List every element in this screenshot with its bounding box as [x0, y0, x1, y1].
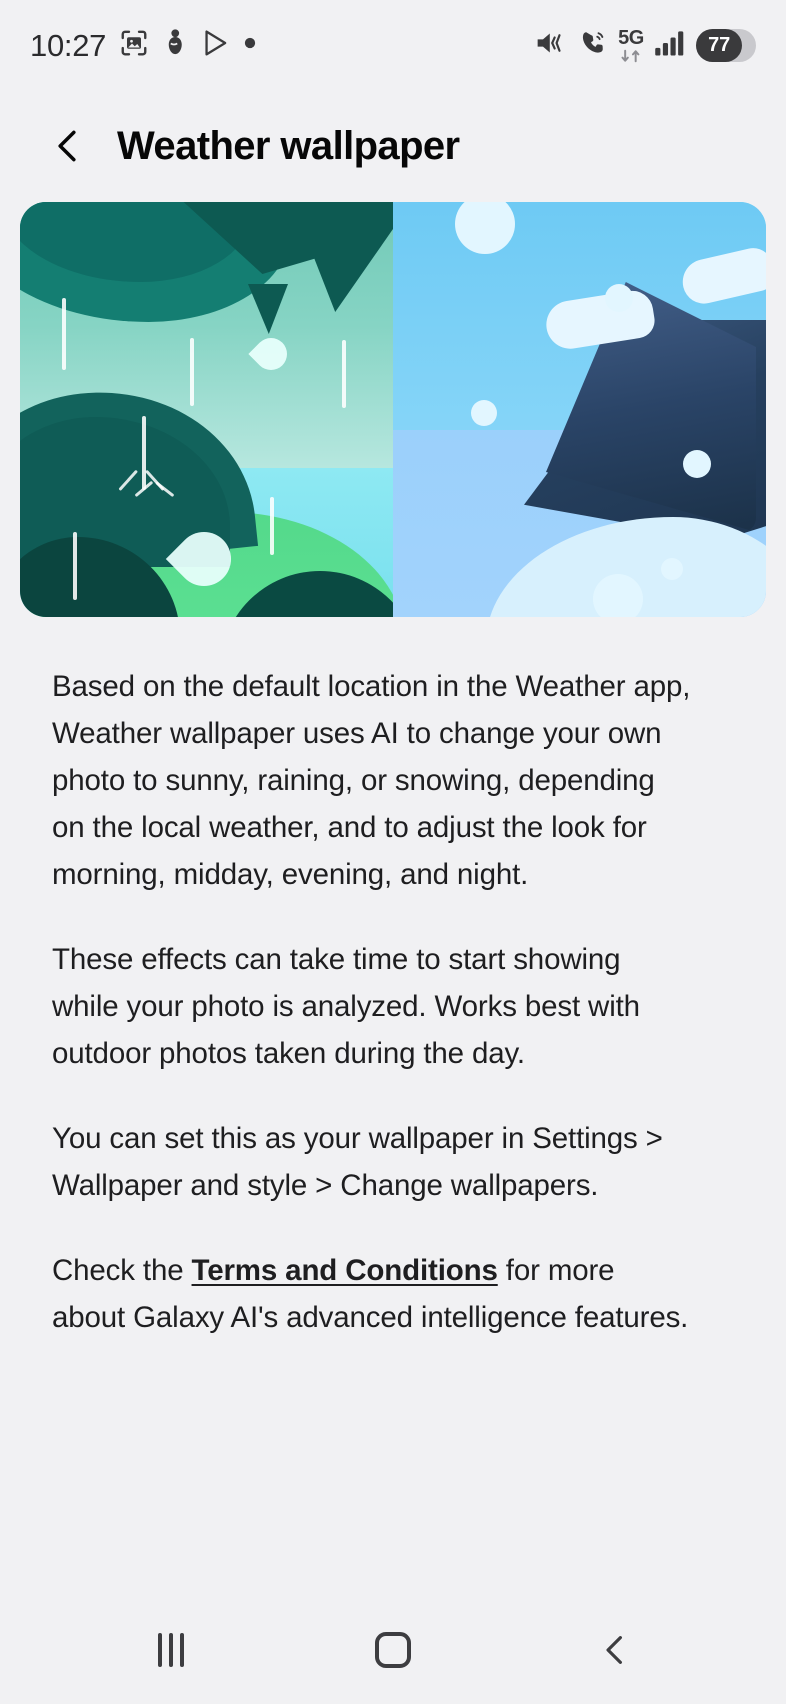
description-paragraph-3: You can set this as your wallpaper in Se… — [52, 1115, 692, 1209]
battery-indicator: 77 — [696, 29, 756, 62]
status-clock: 10:27 — [30, 30, 106, 61]
back-button[interactable] — [45, 123, 91, 169]
terms-and-conditions-link[interactable]: Terms and Conditions — [192, 1254, 498, 1287]
mute-vibrate-icon — [534, 28, 568, 63]
description-paragraph-2: These effects can take time to start sho… — [52, 936, 692, 1077]
battery-percent-label: 77 — [696, 34, 742, 57]
description-paragraph-1: Based on the default location in the Wea… — [52, 663, 692, 898]
app-header: Weather wallpaper — [0, 90, 786, 202]
home-icon — [375, 1632, 411, 1668]
description-content: Based on the default location in the Wea… — [0, 617, 786, 1596]
snowflake-dot — [471, 400, 497, 426]
dot-indicator-icon — [243, 36, 257, 55]
terms-prefix-text: Check the — [52, 1254, 192, 1287]
snowflake-dot — [593, 574, 643, 617]
system-navigation-bar — [0, 1596, 786, 1704]
nav-back-button[interactable] — [560, 1615, 670, 1685]
signal-bars-icon — [654, 29, 686, 62]
5g-data-icon: 5G — [618, 28, 644, 63]
5g-label: 5G — [618, 28, 644, 48]
snowflake-dot — [661, 558, 683, 580]
snow-weather-illustration — [393, 202, 766, 617]
weather-wallpaper-preview — [20, 202, 766, 617]
status-bar-right: 5G 77 — [534, 28, 756, 63]
nav-home-button[interactable] — [338, 1615, 448, 1685]
play-store-icon — [201, 28, 230, 63]
status-bar: 10:27 — [0, 0, 786, 90]
rain-weather-illustration — [20, 202, 393, 617]
phone-ringing-icon — [578, 28, 608, 63]
screenshot-capture-icon — [119, 28, 149, 63]
phone-screen: 10:27 — [0, 0, 786, 1704]
snowflake-dot — [683, 450, 711, 478]
back-chevron-icon — [596, 1631, 634, 1669]
nav-recents-button[interactable] — [116, 1615, 226, 1685]
recents-icon — [158, 1633, 184, 1667]
page-title: Weather wallpaper — [117, 124, 460, 169]
accessibility-figure-icon — [162, 28, 188, 63]
description-paragraph-4: Check the Terms and Conditions for more … — [52, 1247, 692, 1341]
hero-image-wrap — [0, 202, 786, 617]
snowflake-dot — [605, 284, 633, 312]
status-bar-left: 10:27 — [30, 28, 257, 63]
chevron-left-icon — [48, 126, 88, 166]
